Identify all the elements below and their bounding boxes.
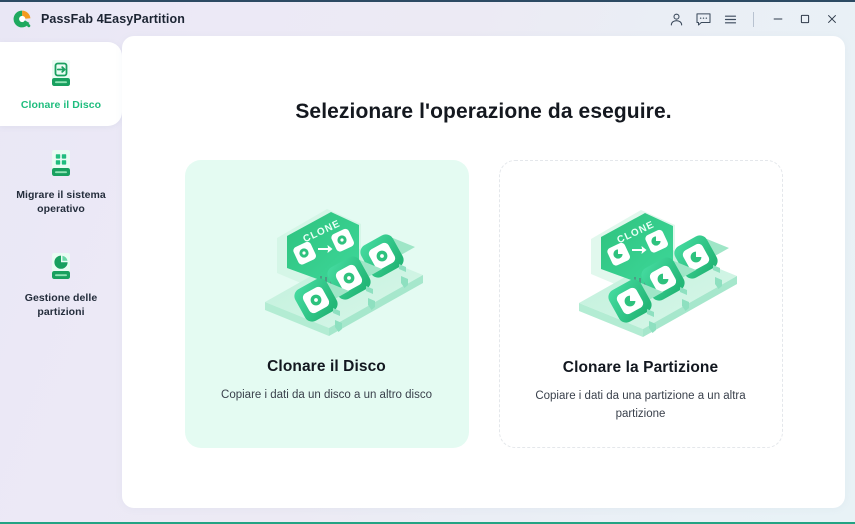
sidebar-item-clone-disk[interactable]: Clonare il Disco bbox=[0, 42, 122, 126]
operation-cards: CLONE bbox=[122, 160, 845, 448]
card-title: Clonare il Disco bbox=[267, 358, 386, 376]
card-clone-disk[interactable]: CLONE bbox=[185, 160, 469, 448]
sidebar-item-partition-management[interactable]: Gestione delle partizioni bbox=[0, 235, 122, 331]
title-bar: PassFab 4EasyPartition bbox=[0, 2, 855, 36]
disk-clone-icon bbox=[44, 56, 78, 90]
card-title: Clonare la Partizione bbox=[563, 359, 718, 377]
card-clone-partition[interactable]: CLONE bbox=[499, 160, 783, 448]
brand: PassFab 4EasyPartition bbox=[12, 9, 185, 29]
close-button[interactable] bbox=[818, 6, 845, 32]
feedback-icon[interactable] bbox=[690, 6, 717, 32]
minimize-button[interactable] bbox=[764, 6, 791, 32]
main-panel: Selezionare l'operazione da eseguire. bbox=[122, 36, 845, 508]
sidebar-item-label: Migrare il sistema operativo bbox=[8, 188, 114, 216]
clone-partition-illustration: CLONE bbox=[523, 177, 758, 355]
account-icon[interactable] bbox=[663, 6, 690, 32]
sidebar-item-label: Clonare il Disco bbox=[8, 98, 114, 112]
card-description: Copiare i dati da una partizione a un al… bbox=[528, 388, 753, 424]
sidebar-item-label: Gestione delle partizioni bbox=[8, 291, 114, 319]
titlebar-divider bbox=[753, 12, 754, 27]
page-title: Selezionare l'operazione da eseguire. bbox=[122, 100, 845, 124]
clone-disk-illustration: CLONE bbox=[209, 176, 444, 354]
titlebar-actions bbox=[663, 6, 845, 32]
app-logo-icon bbox=[12, 9, 32, 29]
sidebar-item-migrate-os[interactable]: Migrare il sistema operativo bbox=[0, 132, 122, 228]
app-title: PassFab 4EasyPartition bbox=[41, 12, 185, 26]
card-description: Copiare i dati da un disco a un altro di… bbox=[221, 387, 432, 405]
disk-partition-icon bbox=[44, 249, 78, 283]
sidebar: Clonare il Disco Migrare il sistema oper… bbox=[0, 36, 122, 520]
disk-os-migrate-icon bbox=[44, 146, 78, 180]
menu-icon[interactable] bbox=[717, 6, 744, 32]
maximize-button[interactable] bbox=[791, 6, 818, 32]
app-window: PassFab 4EasyPartition bbox=[0, 0, 855, 524]
